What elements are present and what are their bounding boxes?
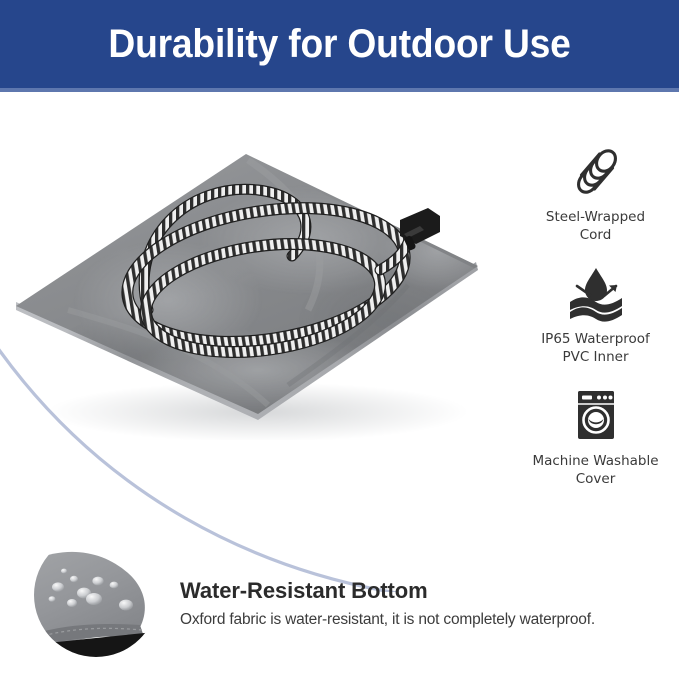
feature-label-line2: PVC Inner [562,349,628,365]
feature-label-line2: Cover [576,471,616,487]
feature-label: IP65 Waterproof PVC Inner [512,330,679,366]
header-banner: Durability for Outdoor Use [0,0,679,88]
feature-label-line1: IP65 Waterproof [541,331,650,347]
feature-label: Steel-Wrapped Cord [512,208,679,244]
page-title: Durability for Outdoor Use [108,22,570,67]
steel-coil-icon [512,140,679,202]
feature-machine-washable: Machine Washable Cover [512,384,679,488]
feature-steel-wrapped-cord: Steel-Wrapped Cord [512,140,679,244]
feature-label-line1: Machine Washable [532,453,658,469]
product-photo [8,120,518,440]
banner-underline [0,88,679,92]
waterproof-layers-icon [512,262,679,324]
callout-heading: Water-Resistant Bottom [180,578,660,604]
feature-list: Steel-Wrapped Cord [512,140,679,506]
callout-text-block: Water-Resistant Bottom Oxford fabric is … [180,578,660,630]
infographic-page: Durability for Outdoor Use [0,0,679,673]
feature-label: Machine Washable Cover [512,452,679,488]
feature-label-line2: Cord [580,227,612,243]
washing-machine-icon [512,384,679,446]
feature-label-line1: Steel-Wrapped [546,209,645,225]
water-resistant-closeup-photo [28,527,164,663]
callout-subtitle: Oxford fabric is water-resistant, it is … [180,610,660,630]
feature-ip65-waterproof: IP65 Waterproof PVC Inner [512,262,679,366]
